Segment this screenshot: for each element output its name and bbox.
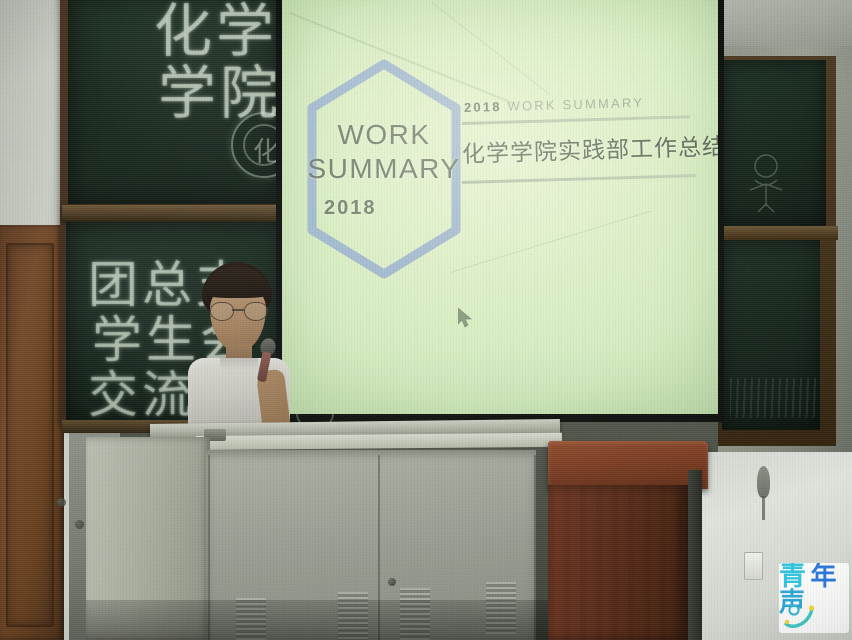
mouse-pointer-icon <box>458 308 472 328</box>
watermark-swoosh-icon <box>783 603 815 629</box>
badge-year: 2018 <box>324 197 377 220</box>
blackboard-divider <box>62 205 288 221</box>
slide-eyebrow-year: 2018 <box>464 99 502 115</box>
watermark-char-2: 年 <box>810 563 836 592</box>
projection-screen: WORK SUMMARY 2018 2018 WORK SUMMARY 化学学院… <box>282 0 718 414</box>
watermark-badge: 青 年 声 <box>779 563 849 633</box>
microphone-body <box>257 351 272 382</box>
glasses-bridge <box>232 309 244 311</box>
floor-shadow <box>86 600 556 640</box>
door-panel <box>6 243 54 627</box>
ceiling-strip <box>718 0 852 46</box>
light-switch[interactable] <box>744 552 763 580</box>
slide-hexagon-badge: WORK SUMMARY 2018 <box>304 58 464 280</box>
glasses-lens-left <box>210 302 234 321</box>
badge-line-2: SUMMARY <box>307 153 460 185</box>
slide-text-block: 2018 WORK SUMMARY 化学学院实践部工作总结 <box>460 100 708 184</box>
wall-screw <box>57 498 66 507</box>
classroom-door[interactable] <box>0 225 69 640</box>
wall-screw <box>75 520 84 529</box>
slide-title: 化学学院实践部工作总结 <box>461 128 708 169</box>
chalk-doodle-icon <box>740 150 792 216</box>
blackboard-left-upper: 化学 学院 化 <box>68 0 284 204</box>
blackboard-right-smudge <box>730 378 818 418</box>
photo-scene: 化学 学院 化 团总支 学生会 交流 <box>0 0 852 640</box>
lectern-top <box>548 441 708 489</box>
shirt-collar <box>220 358 258 371</box>
wall-hook-icon <box>757 466 770 498</box>
slide-rule-bottom <box>462 174 696 184</box>
glasses-icon <box>210 302 266 319</box>
screen-crease <box>450 211 651 274</box>
slide-eyebrow-text: WORK SUMMARY <box>507 95 644 114</box>
glasses-lens-right <box>244 302 268 321</box>
slide-rule-top <box>462 115 690 125</box>
wood-grain <box>548 485 688 640</box>
blackboard-right-divider <box>718 226 838 240</box>
speaker-figure <box>186 262 294 440</box>
podium-door-knob[interactable] <box>388 578 396 586</box>
wall-skirt <box>688 470 702 640</box>
lectern-body <box>548 485 688 640</box>
wall-hook-stem <box>762 496 765 520</box>
badge-line-1: WORK <box>337 119 430 151</box>
chalk-text-line-5: 交流 <box>88 355 196 427</box>
